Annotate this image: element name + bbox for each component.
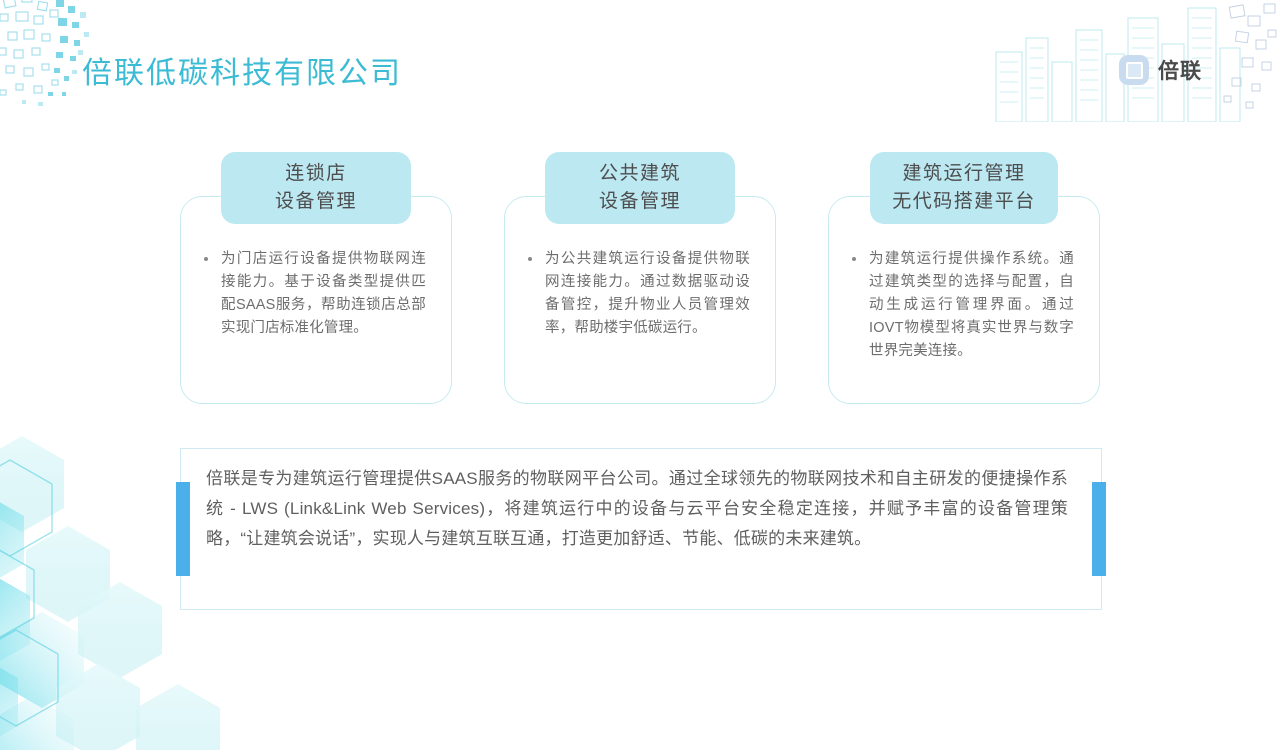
card-body-text: 为公共建筑运行设备提供物联网连接能力。通过数据驱动设备管控，提升物业人员管理效率… (545, 248, 750, 340)
bullet-icon (852, 257, 856, 261)
card-body-1: 为门店运行设备提供物联网连接能力。基于设备类型提供匹配SAAS服务，帮助连锁店总… (204, 248, 426, 340)
feature-cards: 连锁店 设备管理 为门店运行设备提供物联网连接能力。基于设备类型提供匹配SAAS… (0, 0, 1280, 720)
card-body-3: 为建筑运行提供操作系统。通过建筑类型的选择与配置，自动生成运行管理界面。通过IO… (852, 248, 1074, 363)
summary-text: 倍联是专为建筑运行管理提供SAAS服务的物联网平台公司。通过全球领先的物联网技术… (206, 464, 1068, 554)
card-body-text: 为建筑运行提供操作系统。通过建筑类型的选择与配置，自动生成运行管理界面。通过IO… (869, 248, 1074, 363)
bullet-icon (204, 257, 208, 261)
card-title-line2: 设备管理 (599, 188, 681, 216)
card-title-line2: 无代码搭建平台 (892, 188, 1036, 216)
card-title-line1: 公共建筑 (599, 160, 681, 188)
card-title-line1: 连锁店 (285, 160, 347, 188)
bullet-icon (528, 257, 532, 261)
summary-accent-bar-left (176, 482, 190, 576)
card-header-3[interactable]: 建筑运行管理 无代码搭建平台 (870, 152, 1058, 224)
card-title-line1: 建筑运行管理 (902, 160, 1025, 188)
summary-accent-bar-right (1092, 482, 1106, 576)
card-title-line2: 设备管理 (275, 188, 357, 216)
card-body-2: 为公共建筑运行设备提供物联网连接能力。通过数据驱动设备管控，提升物业人员管理效率… (528, 248, 750, 340)
card-header-2[interactable]: 公共建筑 设备管理 (545, 152, 735, 224)
card-body-text: 为门店运行设备提供物联网连接能力。基于设备类型提供匹配SAAS服务，帮助连锁店总… (221, 248, 426, 340)
card-header-1[interactable]: 连锁店 设备管理 (221, 152, 411, 224)
